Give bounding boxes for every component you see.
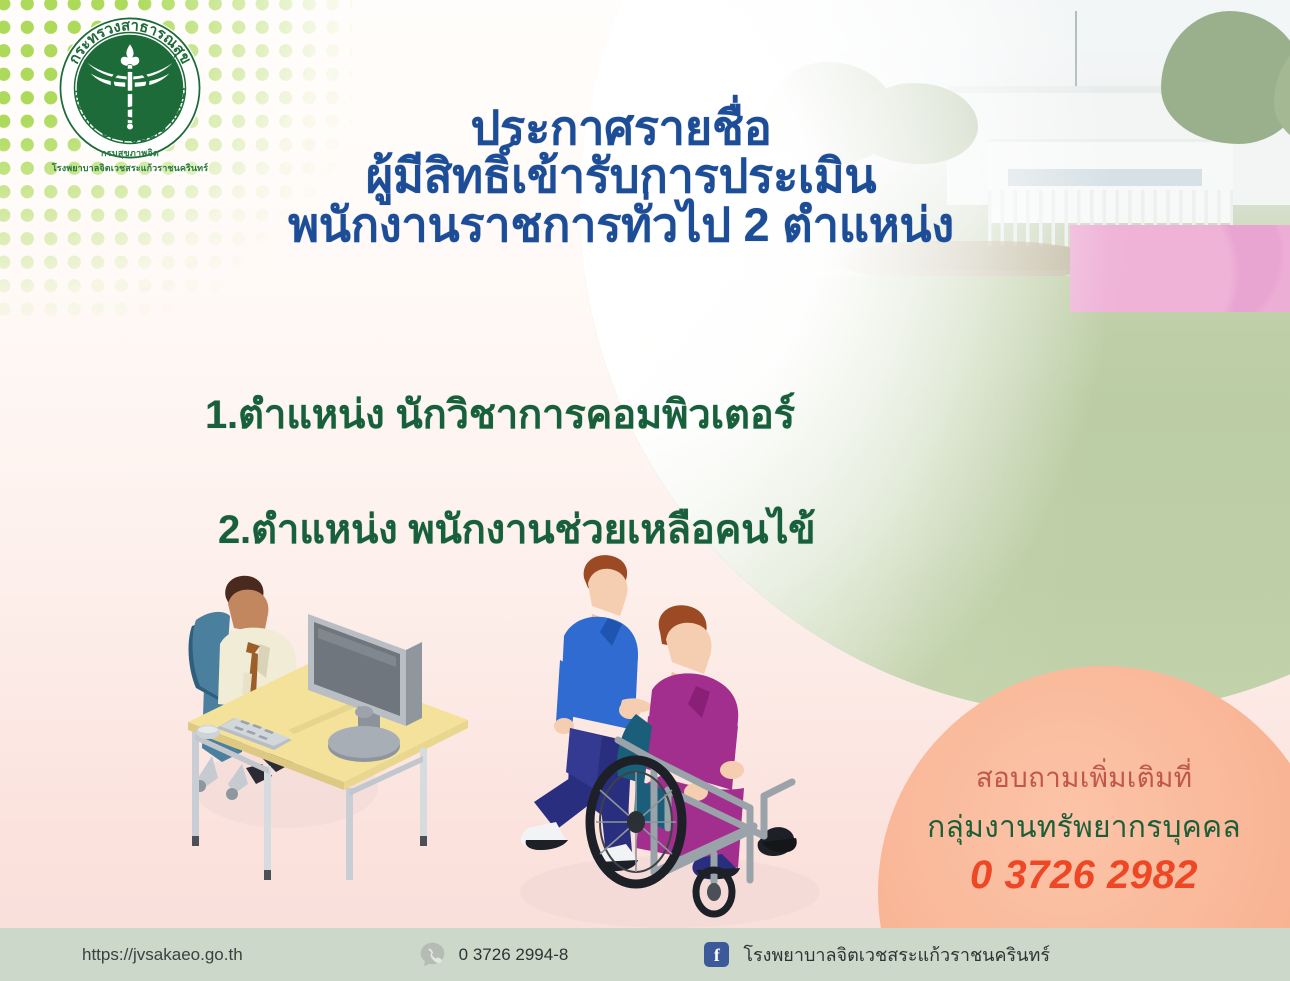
contact-info: สอบถามเพิ่มเติมที่ กลุ่มงานทรัพยากรบุคคล… xyxy=(884,756,1284,898)
title-line-3: พนักงานราชการทั่วไป 2 ตำแหน่ง xyxy=(206,201,1036,249)
wheelchair-large-wheel xyxy=(590,760,682,884)
contact-department: กลุ่มงานทรัพยากรบุคคล xyxy=(884,804,1284,851)
contact-phone: 0 3726 2982 xyxy=(884,853,1284,898)
phone-icon xyxy=(419,941,446,968)
wheelchair-patient-illustration xyxy=(500,540,840,940)
page-title: ประกาศรายชื่อ ผู้มีสิทธิ์เข้ารับการประเม… xyxy=(206,104,1036,249)
ministry-of-public-health-logo: กระทรวงสาธารณสุข MINISTRY OF PUBLIC HEAL… xyxy=(56,14,204,162)
logo-caption-line2: โรงพยาบาลจิตเวชสระแก้วราชนครินทร์ xyxy=(26,161,234,175)
logo-caption-line1: กรมสุขภาพจิต xyxy=(26,146,234,160)
patient xyxy=(617,605,797,879)
footer-facebook[interactable]: f โรงพยาบาลจิตเวชสระแก้วราชนครินทร์ xyxy=(704,940,1050,969)
footer-facebook-page: โรงพยาบาลจิตเวชสระแก้วราชนครินทร์ xyxy=(743,940,1050,969)
logo-caption: กรมสุขภาพจิต โรงพยาบาลจิตเวชสระแก้วราชนค… xyxy=(26,146,234,175)
announcement-poster: กระทรวงสาธารณสุข MINISTRY OF PUBLIC HEAL… xyxy=(0,0,1290,981)
footer-phone: 0 3726 2994-8 xyxy=(419,941,569,968)
office-worker-illustration xyxy=(168,560,488,880)
facebook-icon[interactable]: f xyxy=(704,942,729,967)
footer-bar: https://jvsakaeo.go.th 0 3726 2994-8 f โ… xyxy=(0,928,1290,981)
contact-prompt: สอบถามเพิ่มเติมที่ xyxy=(884,756,1284,800)
title-line-2: ผู้มีสิทธิ์เข้ารับการประเมิน xyxy=(206,152,1036,200)
title-line-1: ประกาศรายชื่อ xyxy=(206,104,1036,152)
footer-website[interactable]: https://jvsakaeo.go.th xyxy=(82,945,243,965)
footer-phone-number: 0 3726 2994-8 xyxy=(459,945,569,965)
position-item-1: 1.ตำแหน่ง นักวิชาการคอมพิวเตอร์ xyxy=(205,382,795,446)
